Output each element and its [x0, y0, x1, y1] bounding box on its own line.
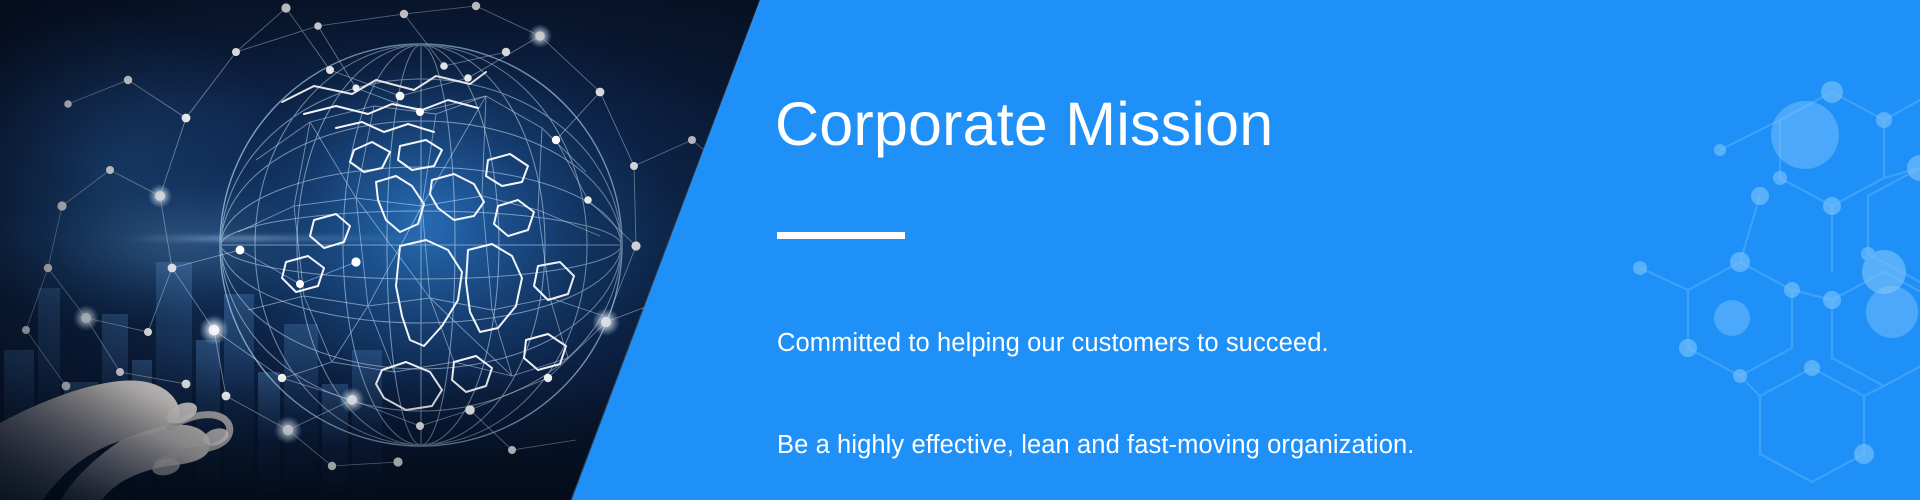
- title-divider: [777, 232, 905, 239]
- globe-photo-panel: [0, 0, 760, 500]
- corporate-mission-banner: Corporate Mission Committed to helping o…: [0, 0, 1920, 500]
- banner-text-content: Corporate Mission Committed to helping o…: [775, 0, 1675, 500]
- mission-line: Be a highly effective, lean and fast-mov…: [777, 428, 1637, 462]
- page-title: Corporate Mission: [775, 92, 1273, 156]
- mission-line: Committed to helping our customers to su…: [777, 326, 1637, 360]
- mission-statement: Committed to helping our customers to su…: [777, 258, 1637, 500]
- hand-illustration: [0, 295, 300, 500]
